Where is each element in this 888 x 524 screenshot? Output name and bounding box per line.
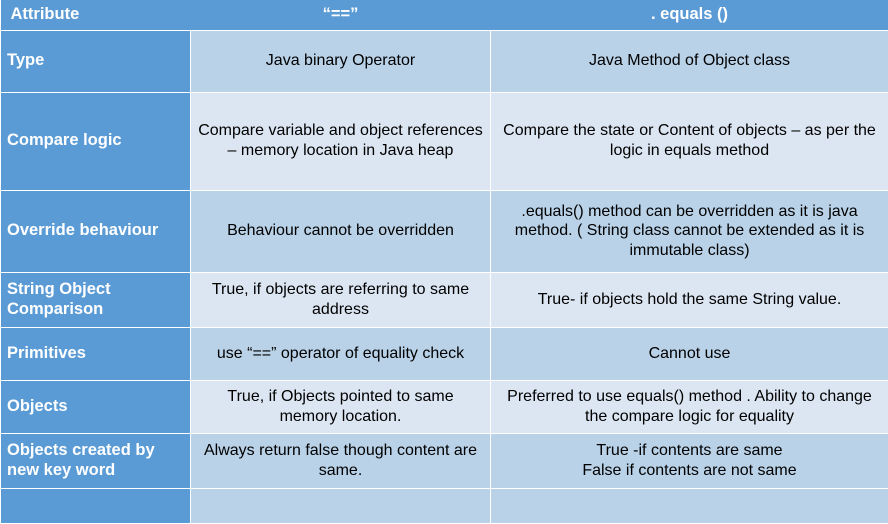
cell-string-object-comparison-equals: True- if objects hold the same String va… [491,272,888,327]
column-header-equals-method: . equals () [491,0,888,30]
table-row: Primitives use “==” operator of equality… [1,327,888,380]
cell-objects-equality: True, if Objects pointed to same memory … [191,380,491,433]
row-label-override-behaviour: Override behaviour [1,190,191,272]
table-header-row: Attribute “==” . equals () [1,0,888,30]
cell-empty-equality [191,488,491,523]
table-head: Attribute “==” . equals () [1,0,888,30]
cell-type-equals: Java Method of Object class [491,30,888,92]
table-row: Objects True, if Objects pointed to same… [1,380,888,433]
comparison-table-container: Attribute “==” . equals () Type Java bin… [0,0,888,523]
cell-objects-created-equality: Always return false though content are s… [191,433,491,488]
row-label-string-object-comparison: String Object Comparison [1,272,191,327]
table-row: String Object Comparison True, if object… [1,272,888,327]
table-row-empty [1,488,888,523]
row-label-compare-logic: Compare logic [1,92,191,190]
cell-override-behaviour-equality: Behaviour cannot be overridden [191,190,491,272]
row-label-empty [1,488,191,523]
row-label-objects-created-by-new-keyword: Objects created by new key word [1,433,191,488]
cell-empty-equals [491,488,888,523]
table-body: Type Java binary Operator Java Method of… [1,30,888,523]
table-row: Type Java binary Operator Java Method of… [1,30,888,92]
cell-type-equality: Java binary Operator [191,30,491,92]
table-row: Objects created by new key word Always r… [1,433,888,488]
table-row: Override behaviour Behaviour cannot be o… [1,190,888,272]
row-label-primitives: Primitives [1,327,191,380]
row-label-type: Type [1,30,191,92]
cell-compare-logic-equality: Compare variable and object references –… [191,92,491,190]
cell-compare-logic-equals: Compare the state or Content of objects … [491,92,888,190]
table-row: Compare logic Compare variable and objec… [1,92,888,190]
cell-override-behaviour-equals: .equals() method can be overridden as it… [491,190,888,272]
cell-primitives-equals: Cannot use [491,327,888,380]
row-label-objects: Objects [1,380,191,433]
cell-objects-created-equals: True -if contents are same False if cont… [491,433,888,488]
cell-string-object-comparison-equality: True, if objects are referring to same a… [191,272,491,327]
cell-primitives-equality: use “==” operator of equality check [191,327,491,380]
column-header-attribute: Attribute [1,0,191,30]
cell-objects-equals: Preferred to use equals() method . Abili… [491,380,888,433]
column-header-equality-operator: “==” [191,0,491,30]
equality-comparison-table: Attribute “==” . equals () Type Java bin… [0,0,888,524]
